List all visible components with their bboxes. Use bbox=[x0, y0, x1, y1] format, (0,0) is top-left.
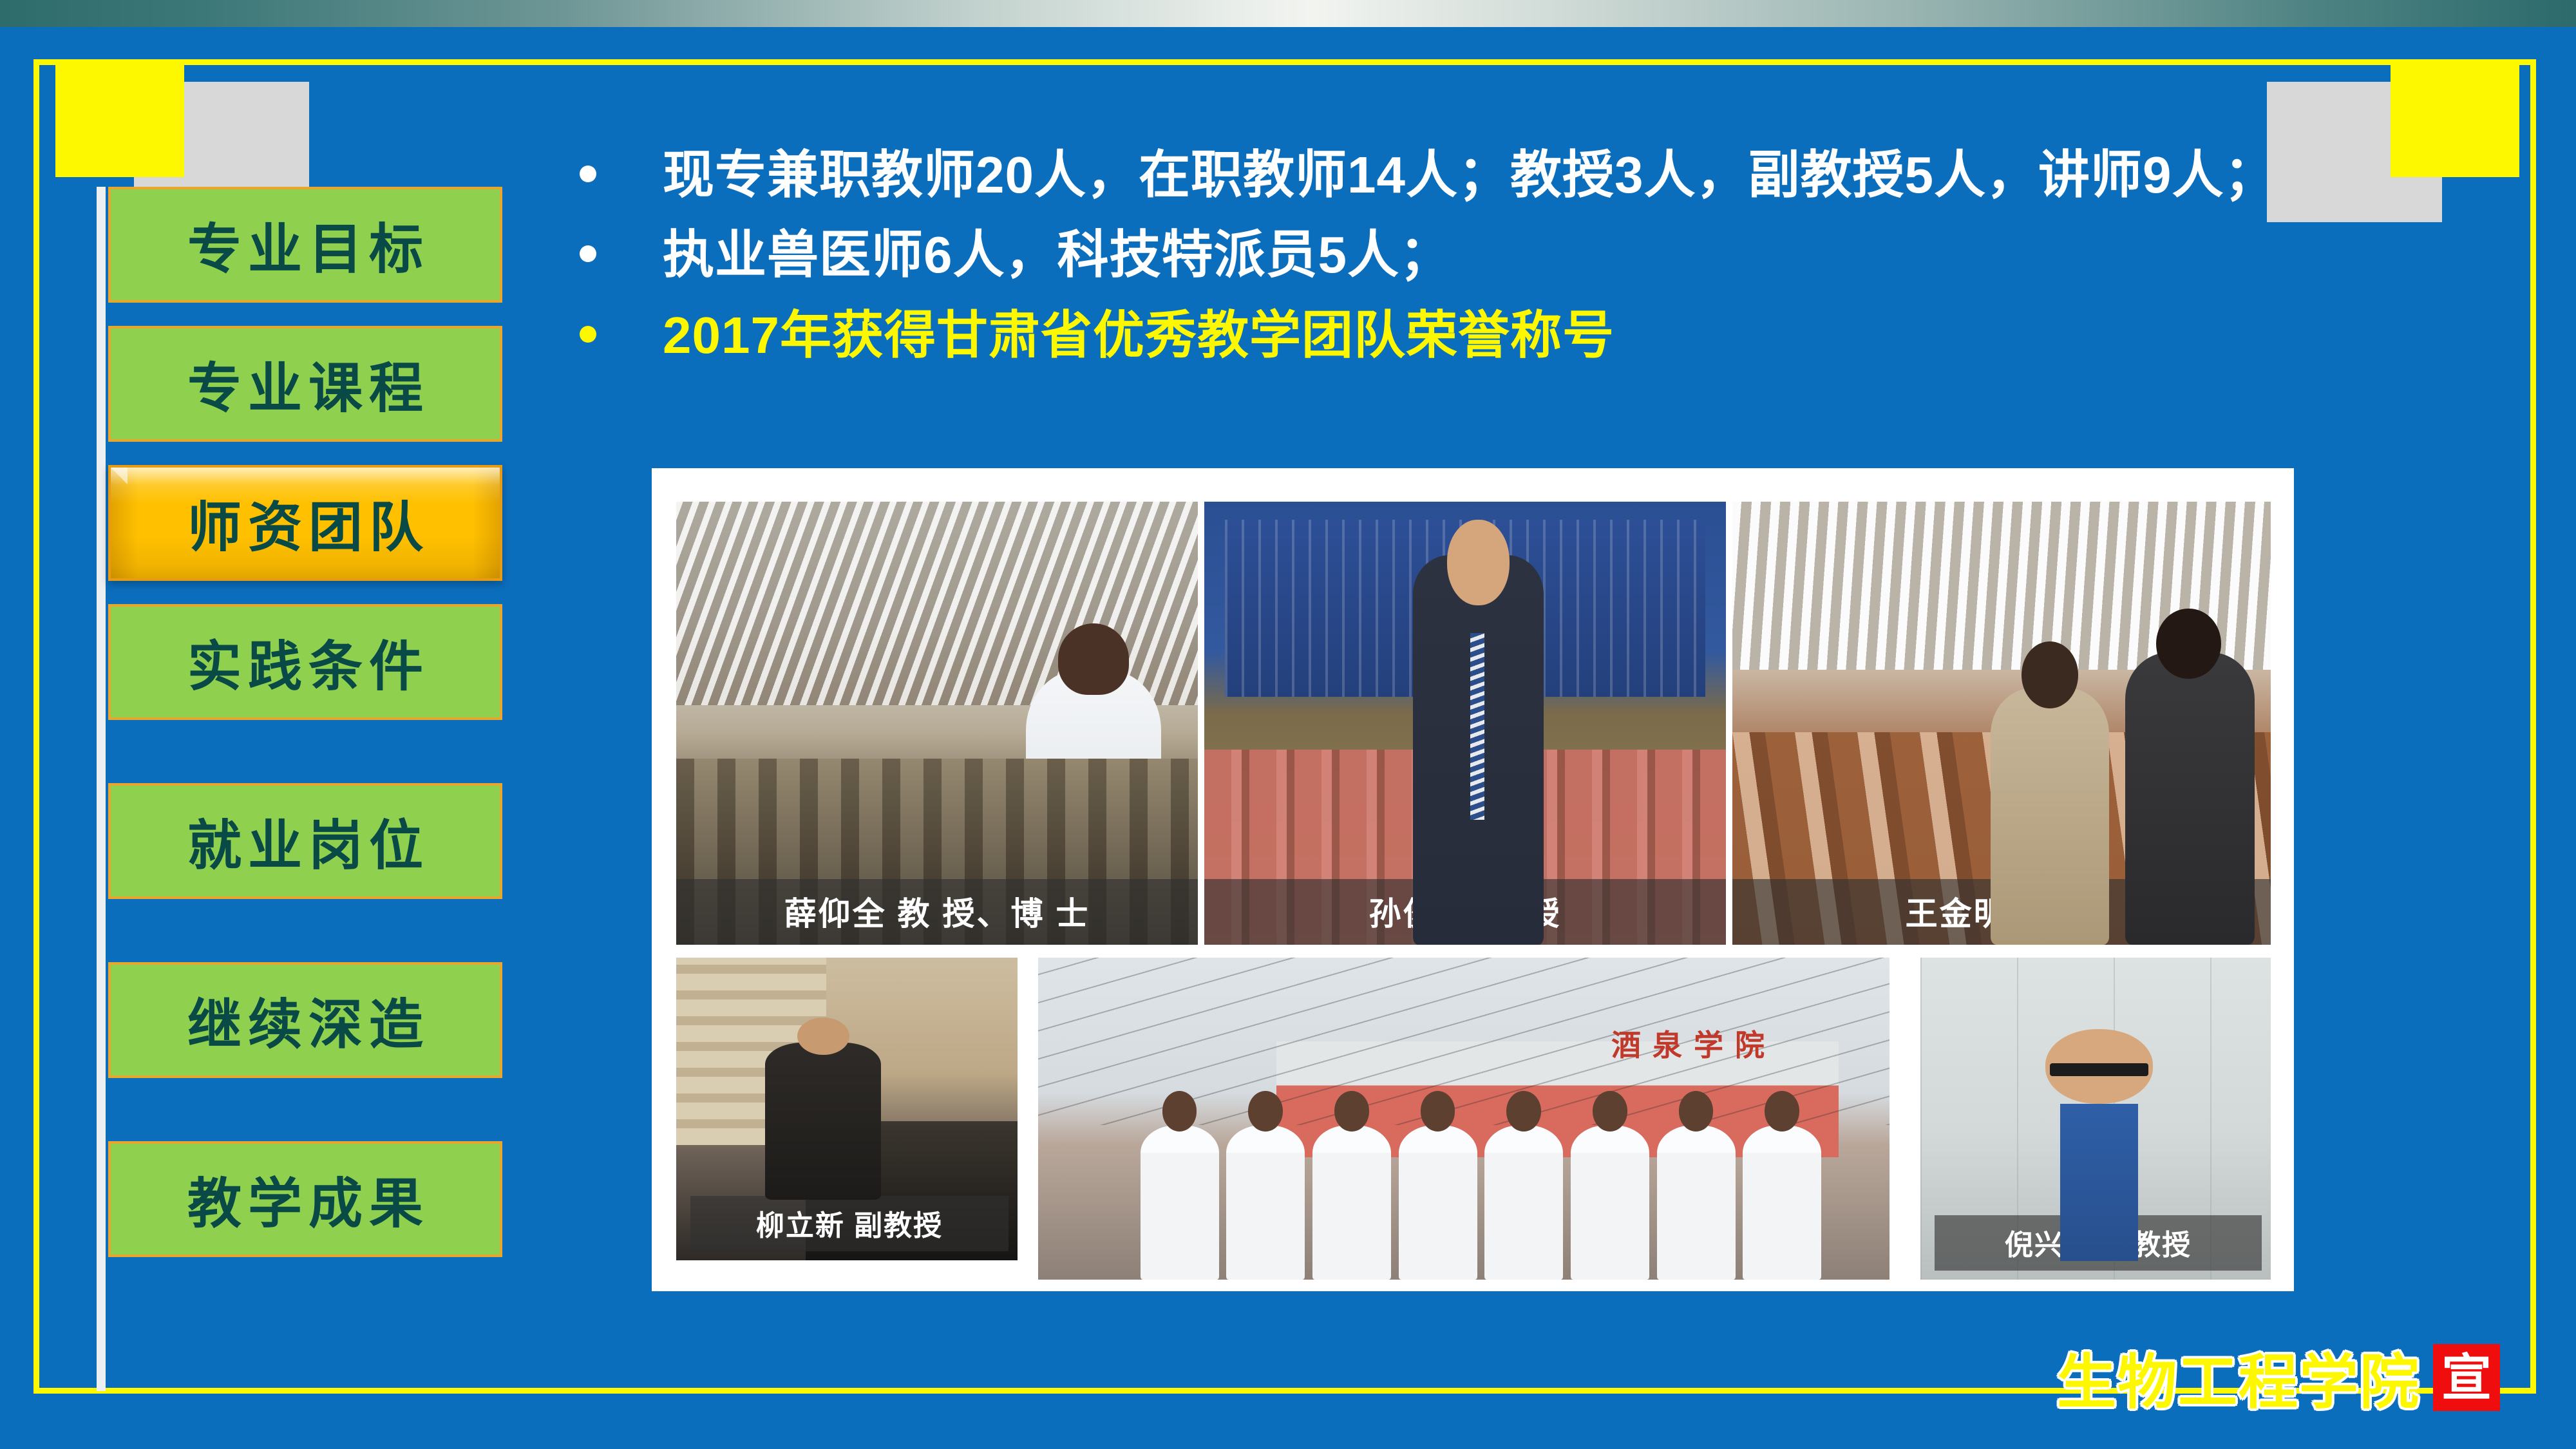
group-figure bbox=[1226, 1125, 1305, 1280]
group-figure bbox=[1484, 1125, 1563, 1280]
group-figure bbox=[1141, 1125, 1219, 1280]
photo-scene-barn-inspection bbox=[676, 502, 1198, 945]
bullet-text: 2017年获得甘肃省优秀教学团队荣誉称号 bbox=[663, 305, 1615, 366]
head-shape bbox=[2022, 641, 2078, 708]
brand-name: 生物工程学院 bbox=[2057, 1334, 2420, 1420]
photo-liu-lixin[interactable]: 柳立新 副教授 bbox=[676, 958, 1018, 1260]
sidebar-item-professional-courses[interactable]: 专业课程 bbox=[108, 326, 502, 442]
photo-xue-yangquan[interactable]: 薛仰全 教 授、博 士 bbox=[676, 502, 1198, 945]
top-gradient-strip bbox=[0, 0, 2576, 27]
group-figure bbox=[1743, 1125, 1821, 1280]
sidebar-item-faculty-team[interactable]: 师资团队 bbox=[108, 465, 502, 581]
photo-gallery-panel: 薛仰全 教 授、博 士 孙俊峰 教 授 王金明 教 授 bbox=[652, 468, 2294, 1291]
sidebar-item-label: 专业课程 bbox=[181, 345, 430, 423]
sidebar-item-label: 就业岗位 bbox=[181, 802, 430, 880]
photo-sun-junfeng[interactable]: 孙俊峰 教 授 bbox=[1204, 502, 1726, 945]
tan-jacket-figure bbox=[1991, 688, 2109, 945]
sidebar-item-practice-conditions[interactable]: 实践条件 bbox=[108, 604, 502, 720]
group-figure bbox=[1571, 1125, 1649, 1280]
glasses-icon bbox=[2050, 1063, 2148, 1076]
necktie-shape bbox=[1470, 633, 1484, 820]
group-figure bbox=[1657, 1125, 1736, 1280]
shirt-shape bbox=[2060, 1104, 2139, 1261]
sidebar-item-label: 继续深造 bbox=[181, 981, 430, 1059]
sidebar-item-label: 教学成果 bbox=[181, 1160, 430, 1238]
brand-badge-xuan: 宣 bbox=[2433, 1344, 2500, 1411]
head-shape bbox=[1058, 623, 1129, 695]
campus-sign-text: 酒泉学院 bbox=[1549, 1022, 1838, 1057]
bevel-highlight-icon bbox=[111, 468, 128, 484]
dark-jacket-figure bbox=[2125, 652, 2255, 945]
bullet-item: 执业兽医师6人，科技特派员5人； bbox=[580, 225, 2447, 285]
sidebar-item-label: 师资团队 bbox=[181, 484, 430, 562]
seated-figure bbox=[765, 1043, 881, 1200]
corner-decoration-top-left-yellow bbox=[55, 61, 184, 177]
photo-group-campus-gate[interactable]: 酒泉学院 bbox=[1038, 958, 1889, 1280]
head-shape bbox=[1447, 520, 1510, 605]
bullet-dot-icon bbox=[580, 245, 596, 262]
photo-scene-campus-gate-group: 酒泉学院 bbox=[1038, 958, 1889, 1280]
bullet-text: 现专兼职教师20人，在职教师14人；教授3人，副教授5人，讲师9人； bbox=[663, 145, 2276, 205]
sidebar-item-label: 实践条件 bbox=[181, 623, 430, 701]
photo-ni-xingjun[interactable]: 倪兴军 副教授 bbox=[1920, 958, 2271, 1280]
photo-caption: 柳立新 副教授 bbox=[690, 1196, 1009, 1251]
portrait-figure bbox=[1976, 1093, 2222, 1280]
footer-brand: 生物工程学院 宣 bbox=[2057, 1334, 2500, 1420]
sidebar-item-teaching-achievements[interactable]: 教学成果 bbox=[108, 1141, 502, 1257]
group-figure bbox=[1399, 1125, 1477, 1280]
bullet-text: 执业兽医师6人，科技特派员5人； bbox=[663, 225, 1452, 285]
bullet-list: 现专兼职教师20人，在职教师14人；教授3人，副教授5人，讲师9人； 执业兽医师… bbox=[580, 145, 2447, 385]
slide-root: 专业目标 专业课程 师资团队 实践条件 就业岗位 继续深造 教学成果 bbox=[0, 0, 2576, 1449]
bullet-item-highlighted: 2017年获得甘肃省优秀教学团队荣誉称号 bbox=[580, 305, 2447, 366]
sidebar-item-label: 专业目标 bbox=[181, 206, 430, 284]
sidebar-item-professional-goal[interactable]: 专业目标 bbox=[108, 187, 502, 303]
bullet-dot-icon bbox=[580, 166, 596, 182]
bullet-dot-icon bbox=[580, 326, 596, 343]
photo-scene-cattle-shed bbox=[1732, 502, 2271, 945]
sidebar-item-continuing-education[interactable]: 继续深造 bbox=[108, 962, 502, 1078]
photo-caption: 薛仰全 教 授、博 士 bbox=[676, 879, 1198, 945]
head-shape bbox=[2156, 609, 2221, 679]
suited-figure bbox=[1413, 555, 1544, 945]
photo-scene-conference-hall bbox=[1204, 502, 1726, 945]
sidebar-rail bbox=[97, 187, 106, 1391]
group-figures-row bbox=[1141, 1125, 1822, 1280]
bullet-item: 现专兼职教师20人，在职教师14人；教授3人，副教授5人，讲师9人； bbox=[580, 145, 2447, 205]
sidebar-item-employment-positions[interactable]: 就业岗位 bbox=[108, 783, 502, 899]
head-shape bbox=[797, 1018, 849, 1056]
group-figure bbox=[1312, 1125, 1391, 1280]
photo-wang-jinming[interactable]: 王金明 教 授 bbox=[1732, 502, 2271, 945]
